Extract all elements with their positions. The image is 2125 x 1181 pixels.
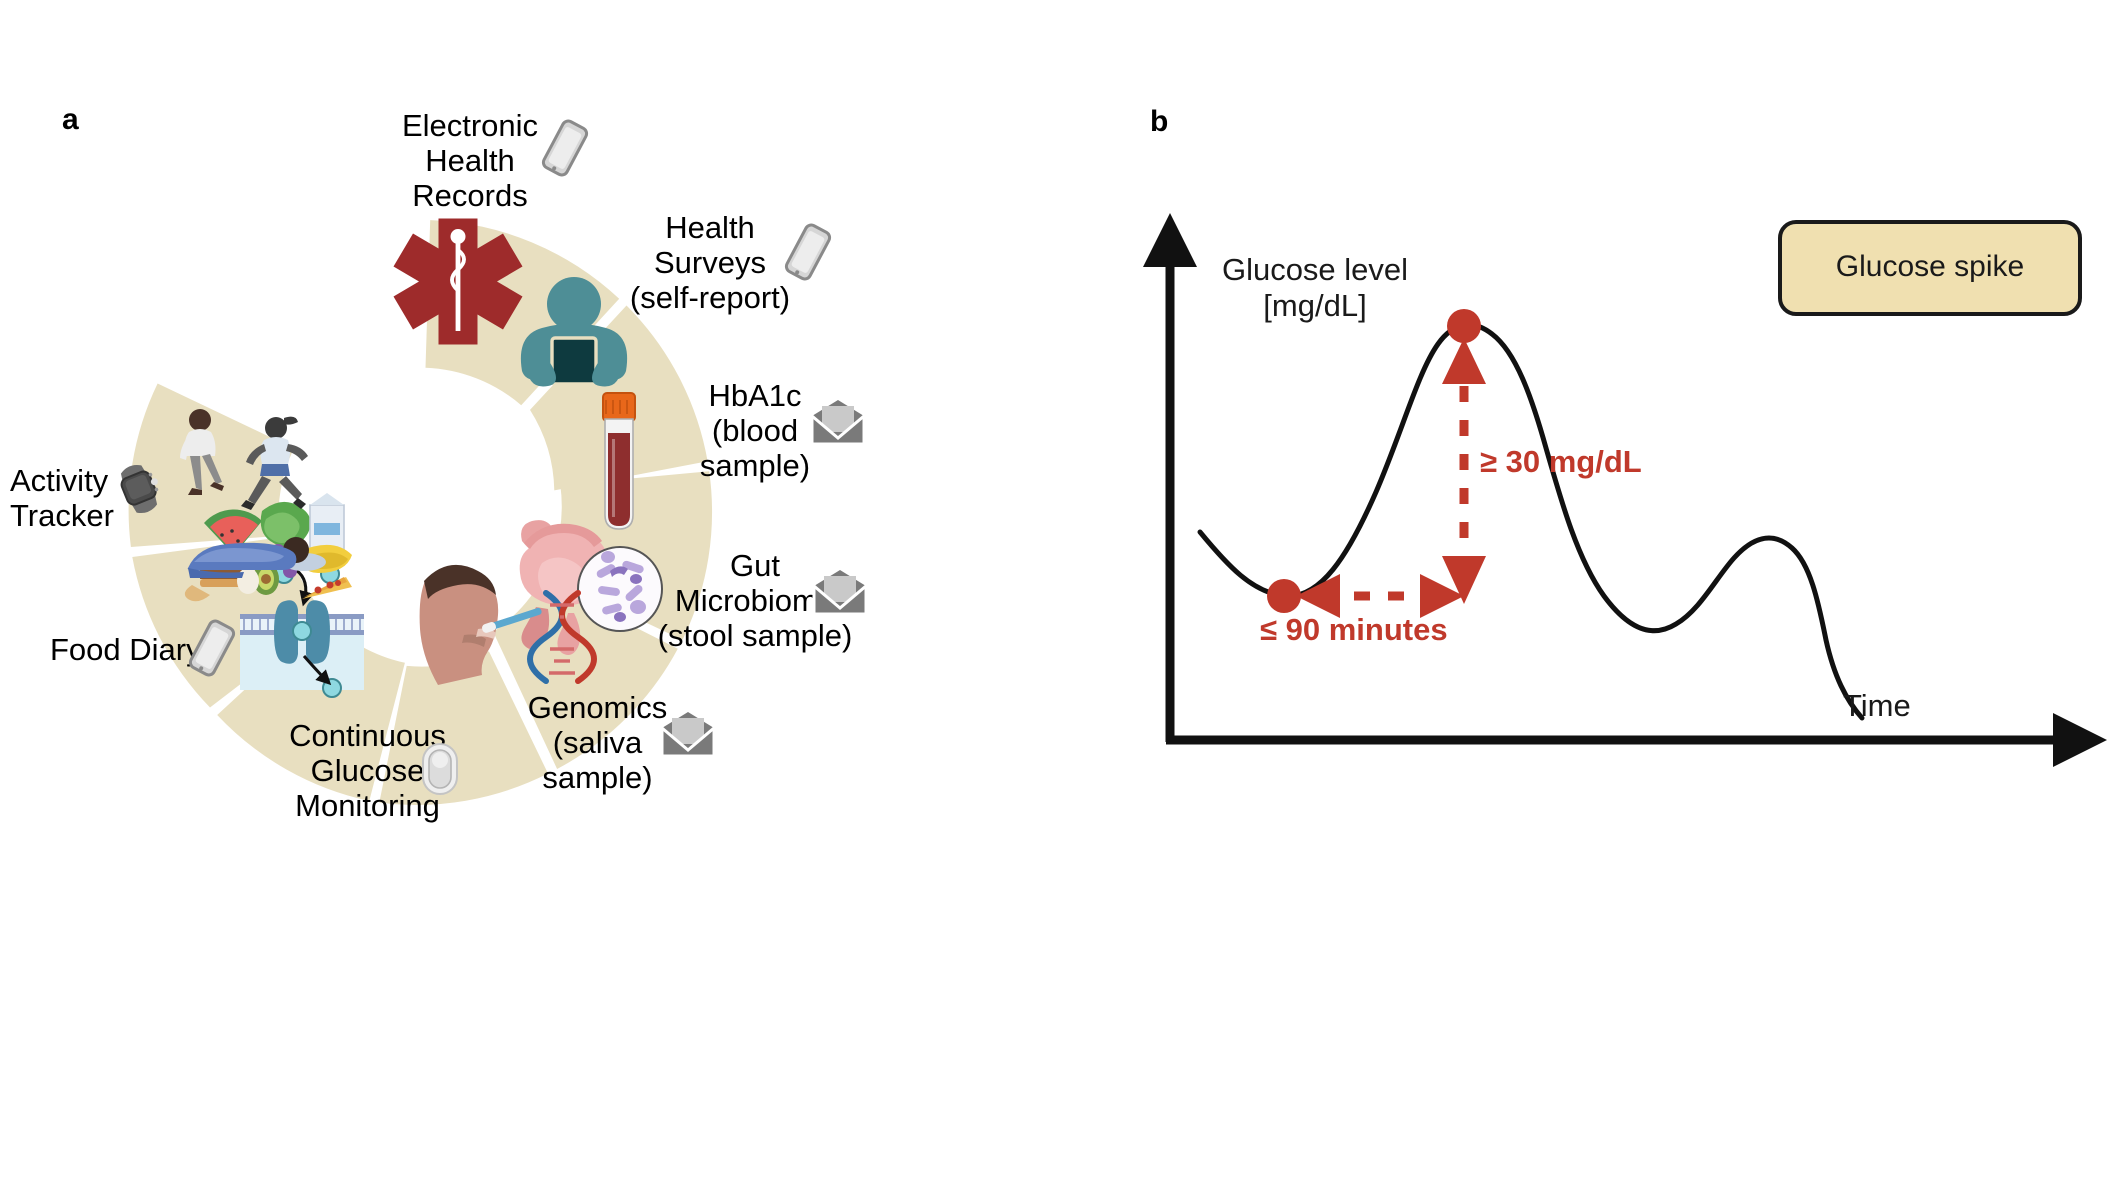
blood-collection-tube-icon xyxy=(603,393,635,529)
annotation-time-threshold: ≤ 90 minutes xyxy=(1260,612,1448,648)
glucose-spike-callout-label: Glucose spike xyxy=(1780,250,2080,284)
envelope-icon-hba1c xyxy=(810,398,866,451)
cgm-sensor-icon xyxy=(418,740,462,803)
smartphone-icon-ehr xyxy=(535,118,595,183)
panel-a-data-modalities: a xyxy=(0,0,1180,1181)
x-axis-label: Time xyxy=(1843,688,1911,724)
envelope-icon-genomics xyxy=(660,710,716,763)
rise-arrow-up xyxy=(1442,338,1486,384)
panel-b-glucose-spike-definition: b Glucose level [mg/dL] Time Gluco xyxy=(1180,0,2125,1181)
peak-point-marker xyxy=(1447,309,1481,343)
smartwatch-icon xyxy=(108,458,170,525)
nadir-point-marker xyxy=(1267,579,1301,613)
glucose-curve xyxy=(1200,325,1862,718)
annotation-rise-threshold: ≥ 30 mg/dL xyxy=(1480,444,1642,480)
y-axis-label: Glucose level [mg/dL] xyxy=(1190,252,1440,323)
smartphone-icon-food-diary xyxy=(182,618,242,683)
envelope-icon-gut-microbiome xyxy=(812,568,868,621)
smartphone-icon-surveys xyxy=(778,222,838,287)
panel-b-label: b xyxy=(1150,105,1168,139)
glucose-spike-chart xyxy=(1180,0,2125,1181)
